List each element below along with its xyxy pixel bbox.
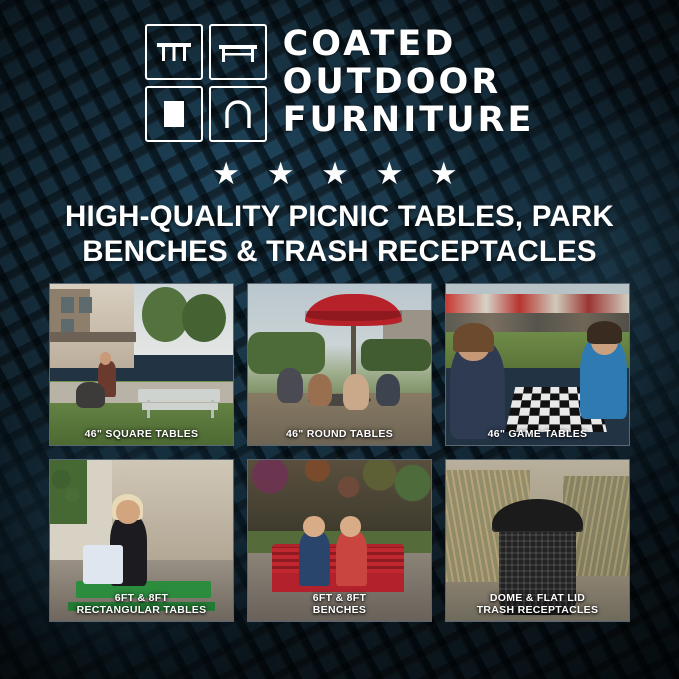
page-title: HIGH-QUALITY PICNIC TABLES, PARK BENCHES…	[30, 200, 649, 270]
brand-name-line-3: FURNITURE	[283, 103, 535, 139]
product-card-game-tables[interactable]: 46" GAME TABLES	[445, 283, 630, 446]
product-caption: 46" ROUND TABLES	[248, 424, 431, 445]
product-grid: 46" SQUARE TABLES 46" ROUND TAB	[49, 283, 631, 622]
logo-cell-flat-lid-receptacle-icon	[145, 86, 203, 142]
product-caption-line-2: TRASH RECEPTACLES	[449, 604, 626, 616]
product-caption: DOME & FLAT LID TRASH RECEPTACLES	[446, 588, 629, 621]
product-caption: 6FT & 8FT BENCHES	[248, 588, 431, 621]
logo-cell-dome-lid-receptacle-icon	[209, 86, 267, 142]
product-caption-line-1: 46" SQUARE TABLES	[85, 428, 199, 440]
product-card-rectangular-tables[interactable]: 6FT & 8FT RECTANGULAR TABLES	[49, 459, 234, 622]
product-caption-line-1: 6FT & 8FT	[313, 592, 366, 604]
product-caption-line-2: BENCHES	[251, 604, 428, 616]
product-caption: 6FT & 8FT RECTANGULAR TABLES	[50, 588, 233, 621]
product-caption-line-1: 46" GAME TABLES	[488, 428, 588, 440]
product-photo-square-tables	[50, 284, 233, 445]
product-poster: COATED OUTDOOR FURNITURE ★ ★ ★ ★ ★ HIGH-…	[0, 0, 679, 679]
product-card-round-tables[interactable]: 46" ROUND TABLES	[247, 283, 432, 446]
logo-mark-icon	[145, 24, 267, 142]
brand-wordmark: COATED OUTDOOR FURNITURE	[283, 27, 535, 138]
brand-name-line-2: OUTDOOR	[283, 65, 535, 101]
headline-line-2: BENCHES & TRASH RECEPTACLES	[30, 235, 649, 270]
headline-line-1: HIGH-QUALITY PICNIC TABLES, PARK	[65, 200, 614, 233]
logo-cell-square-table-icon	[145, 24, 203, 80]
product-caption-line-2: RECTANGULAR TABLES	[53, 604, 230, 616]
product-caption: 46" GAME TABLES	[446, 424, 629, 445]
logo-cell-bench-icon	[209, 24, 267, 80]
brand-name-line-1: COATED	[283, 27, 535, 63]
product-caption-line-1: 6FT & 8FT	[115, 592, 168, 604]
product-card-square-tables[interactable]: 46" SQUARE TABLES	[49, 283, 234, 446]
star-rating: ★ ★ ★ ★ ★	[0, 158, 679, 189]
product-photo-round-tables	[248, 284, 431, 445]
product-caption-line-1: 46" ROUND TABLES	[286, 428, 393, 440]
product-card-trash-receptacles[interactable]: DOME & FLAT LID TRASH RECEPTACLES	[445, 459, 630, 622]
product-card-benches[interactable]: 6FT & 8FT BENCHES	[247, 459, 432, 622]
product-caption-line-1: DOME & FLAT LID	[490, 592, 585, 604]
product-caption: 46" SQUARE TABLES	[50, 424, 233, 445]
product-photo-game-tables	[446, 284, 629, 445]
brand-logo: COATED OUTDOOR FURNITURE	[0, 24, 679, 142]
